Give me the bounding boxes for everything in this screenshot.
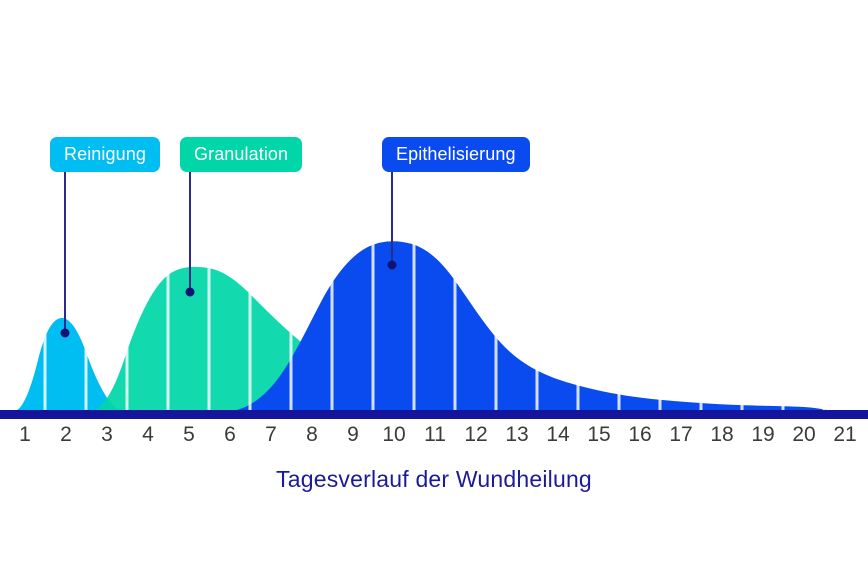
x-axis-label-day-5: 5: [183, 419, 195, 451]
phase-badge-epithelisierung[interactable]: Epithelisierung: [382, 137, 530, 172]
x-axis-label-day-21: 21: [833, 419, 856, 451]
x-axis-label-day-14: 14: [546, 419, 569, 451]
x-axis-label-day-6: 6: [224, 419, 236, 451]
chart-plot-area: [0, 0, 868, 420]
phase-badge-granulation[interactable]: Granulation: [180, 137, 302, 172]
x-axis-label-day-1: 1: [19, 419, 31, 451]
x-axis-label-day-7: 7: [265, 419, 277, 451]
x-axis-label-day-3: 3: [101, 419, 113, 451]
x-axis-label-day-16: 16: [628, 419, 651, 451]
annotation-dot-granulation: [186, 288, 195, 297]
area-series-epithelisierung: [222, 241, 836, 412]
x-axis-label-day-12: 12: [464, 419, 487, 451]
x-axis-label-day-17: 17: [669, 419, 692, 451]
x-axis-day-labels: 123456789101112131415161718192021: [0, 419, 868, 451]
x-axis-label-day-20: 20: [792, 419, 815, 451]
baseline-axis-bar: [0, 410, 868, 419]
wound-healing-chart-figure: Reinigung Granulation Epithelisierung 12…: [0, 0, 868, 578]
x-axis-label-day-11: 11: [424, 419, 446, 451]
x-axis-label-day-18: 18: [710, 419, 733, 451]
x-axis-label-day-9: 9: [347, 419, 359, 451]
x-axis-label-day-19: 19: [751, 419, 774, 451]
x-axis-label-day-13: 13: [505, 419, 528, 451]
annotation-dot-epithelisierung: [388, 261, 397, 270]
x-axis-label-day-4: 4: [142, 419, 154, 451]
x-axis-label-day-10: 10: [382, 419, 405, 451]
chart-title: Tagesverlauf der Wundheilung: [0, 466, 868, 493]
x-axis-label-day-2: 2: [60, 419, 72, 451]
annotation-dot-reinigung: [61, 329, 70, 338]
x-axis-label-day-8: 8: [306, 419, 318, 451]
x-axis-label-day-15: 15: [587, 419, 610, 451]
phase-badge-reinigung[interactable]: Reinigung: [50, 137, 160, 172]
